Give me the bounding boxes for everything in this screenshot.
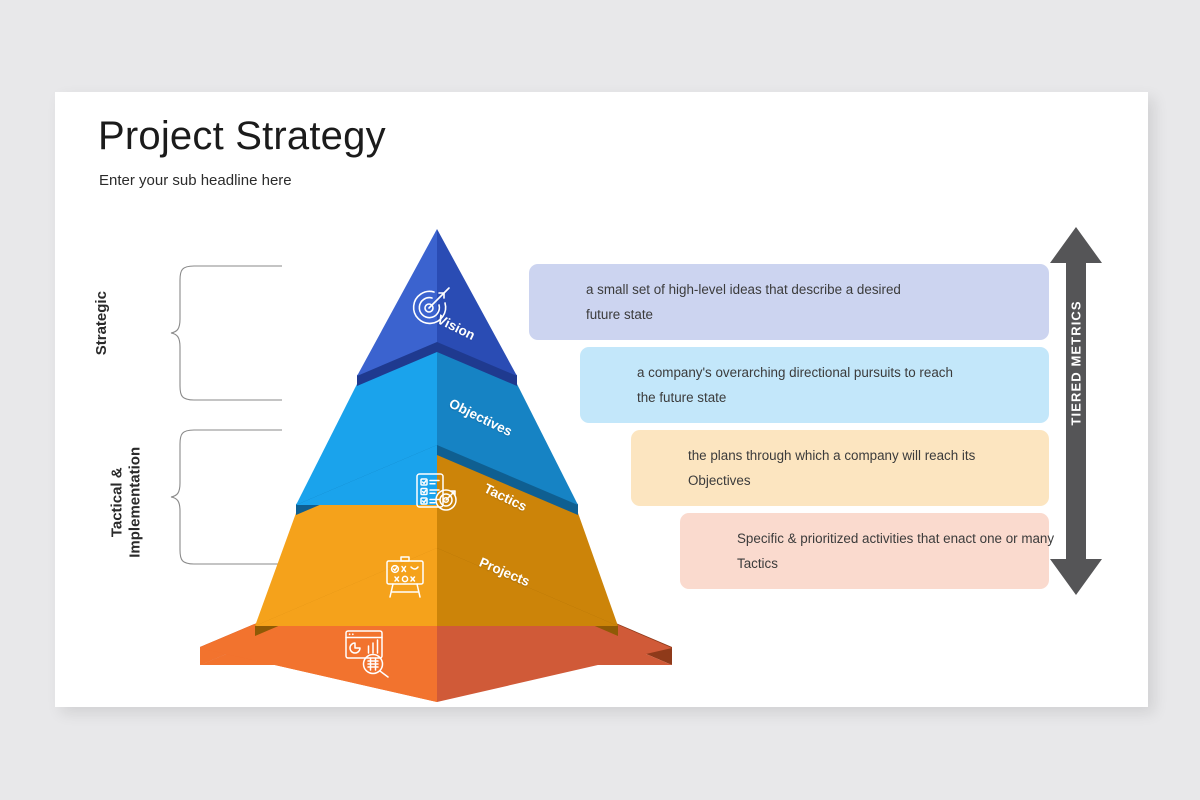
description-line-1: the plans through which a company will r…	[631, 443, 1049, 468]
pyramid-tier-projects	[200, 547, 672, 702]
group-label-strategic: Strategic	[93, 263, 111, 383]
data-analysis-icon	[343, 628, 397, 678]
description-line-2: future state	[529, 302, 1049, 327]
page-subtitle: Enter your sub headline here	[99, 172, 292, 189]
brace-tactical-implementation	[170, 428, 282, 566]
strategy-board-icon	[381, 554, 429, 600]
pyramid-band-vision-objectives	[357, 341, 517, 386]
description-box-objectives: a company's overarching directional purs…	[580, 347, 1049, 423]
description-line-2: Tactics	[680, 551, 1049, 576]
pyramid-label-projects: Projects	[477, 555, 532, 590]
description-line-2: Objectives	[631, 468, 1049, 493]
group-label-line2: Implementation	[127, 447, 144, 558]
pyramid-label-objectives: Objectives	[447, 396, 515, 439]
tiered-metrics-label: TIERED METRICS	[1069, 374, 1084, 426]
pyramid-label-tactics: Tactics	[482, 481, 529, 514]
slide-stage: Project Strategy Enter your sub headline…	[0, 0, 1200, 800]
description-line-2: the future state	[580, 385, 1049, 410]
pyramid-band-tactics-projects	[255, 547, 618, 636]
slide-canvas: Project Strategy Enter your sub headline…	[55, 92, 1148, 707]
description-box-projects: Specific & prioritized activities that e…	[680, 513, 1049, 589]
checklist-target-icon	[413, 470, 461, 518]
target-arrow-icon	[408, 285, 452, 329]
description-line-1: Specific & prioritized activities that e…	[680, 526, 1049, 551]
group-label-tactical-implementation: Tactical & Implementation	[109, 422, 146, 582]
description-line-1: a small set of high-level ideas that des…	[529, 277, 1049, 302]
pyramid-tier-projects-top-band	[437, 547, 672, 665]
group-label-line1: Tactical &	[109, 467, 126, 537]
brace-strategic	[170, 264, 282, 402]
description-line-1: a company's overarching directional purs…	[580, 360, 1049, 385]
description-box-vision: a small set of high-level ideas that des…	[529, 264, 1049, 340]
page-title: Project Strategy	[98, 114, 386, 159]
description-box-tactics: the plans through which a company will r…	[631, 430, 1049, 506]
